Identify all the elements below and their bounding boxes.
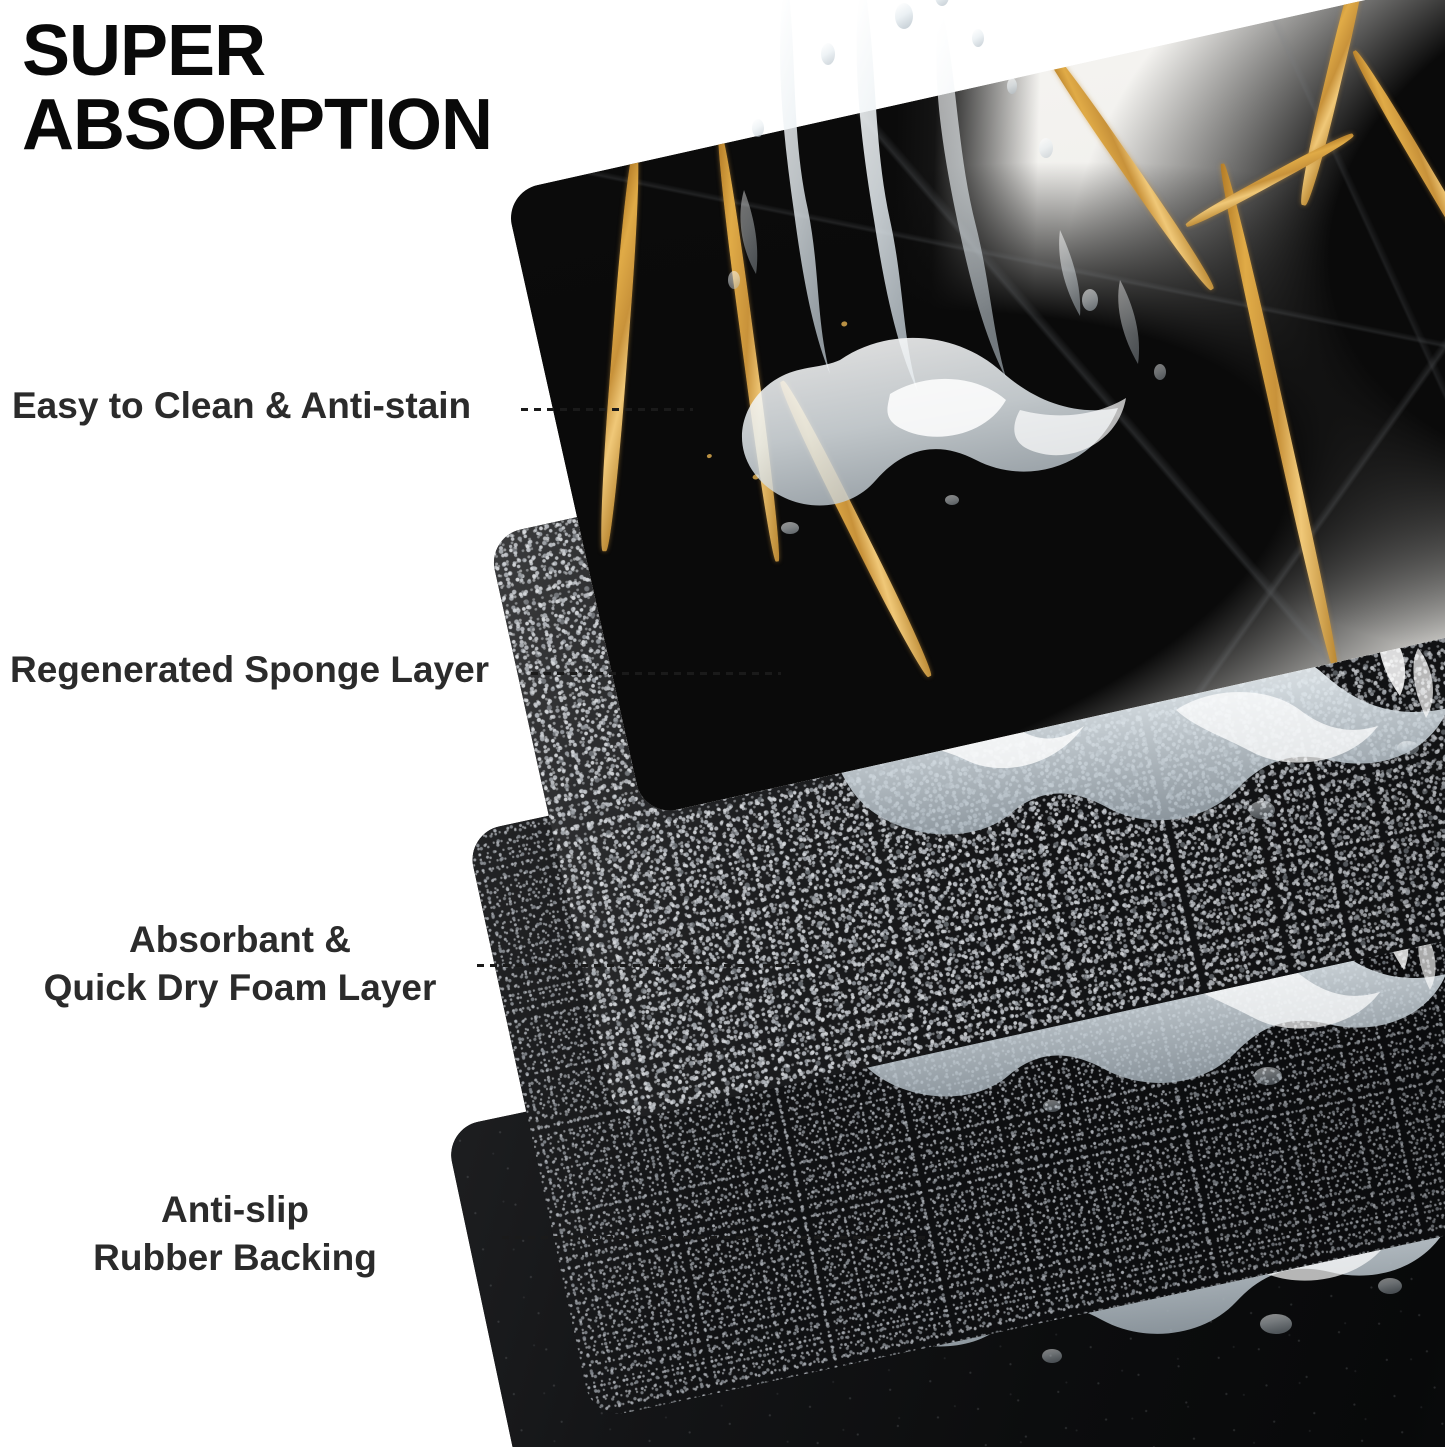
callout-label-anti-slip-rubber: Anti-slip Rubber Backing — [20, 1186, 450, 1282]
callout-label-easy-to-clean: Easy to Clean & Anti-stain — [12, 384, 512, 428]
leader-line-easy-to-clean — [521, 408, 693, 411]
leader-line-regenerated-sponge — [531, 672, 781, 675]
callout-label-regenerated-sponge: Regenerated Sponge Layer — [10, 648, 530, 692]
leader-line-anti-slip-rubber — [502, 1236, 927, 1239]
product-infographic: SUPER ABSORPTION Easy to Clean & Anti-st… — [0, 0, 1445, 1447]
leader-line-absorbant-foam — [477, 964, 807, 967]
callout-label-absorbant-foam: Absorbant & Quick Dry Foam Layer — [20, 916, 460, 1012]
page-title: SUPER ABSORPTION — [22, 14, 642, 162]
